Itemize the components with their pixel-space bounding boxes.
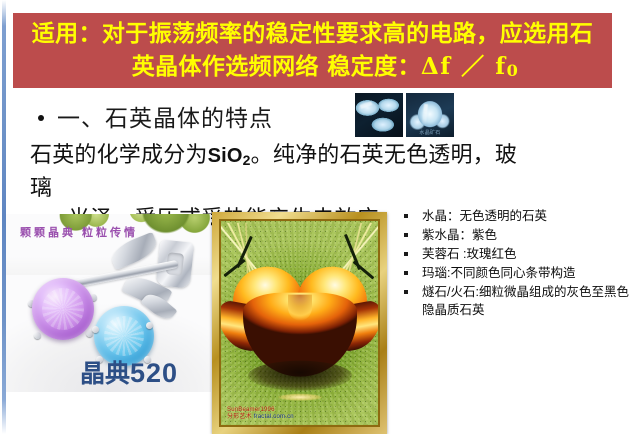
- gem-item-label: 燧石/火石:细粒微晶组成的灰色至黑色隐晶质石英: [422, 283, 630, 319]
- artwork-credit-line-1: SunBeamer1996: [227, 407, 294, 414]
- list-item: 玛瑙:不同颜色同心条带构造: [398, 264, 630, 282]
- bullet-square-icon: [404, 252, 408, 256]
- title-banner: 适用：对于振荡频率的稳定性要求高的电路，应选用石 英晶体作选频网络 稳定度：Δf…: [13, 13, 612, 88]
- chem-formula-base: SiO: [208, 145, 243, 167]
- amethyst-gemstone: [32, 278, 94, 340]
- list-item: 芙蓉石 :玫瑰红色: [398, 245, 630, 263]
- heart-notch: [288, 294, 312, 320]
- formula-delta-f: Δf: [421, 53, 452, 80]
- title-banner-line-2-text: 英晶体作选频网络 稳定度：: [132, 53, 421, 80]
- framed-artwork: SunBeamer1996 分形艺术 fractal.com.cn: [212, 212, 387, 434]
- quartz-photo-strip: 水晶矿石: [355, 93, 454, 137]
- gem-item-label: 玛瑙:不同颜色同心条带构造: [422, 264, 630, 282]
- jewelry-watermark-brand: 晶典520: [80, 358, 178, 389]
- chem-formula-subscript: 2: [243, 152, 251, 168]
- body-paragraph-line-1: 石英的化学成分为SiO2。纯净的石英无色透明，玻璃: [30, 140, 520, 204]
- artwork-credit-watermark: SunBeamer1996 分形艺术 fractal.com.cn: [227, 407, 294, 421]
- bullet-square-icon: [404, 214, 408, 218]
- gem-item-label: 紫水晶：紫色: [422, 226, 630, 244]
- setting-prong: [92, 326, 99, 333]
- list-item: 燧石/火石:细粒微晶组成的灰色至黑色隐晶质石英: [398, 283, 630, 319]
- gemstone-jewelry-photo: 颗颗晶典 粒粒传情 晶典520: [6, 214, 211, 392]
- setting-prong: [34, 332, 41, 339]
- title-banner-line-1: 适用：对于振荡频率的稳定性要求高的电路，应选用石: [32, 17, 594, 50]
- bullet-square-icon: [404, 290, 408, 294]
- list-item: 水晶：无色透明的石英: [398, 207, 630, 225]
- jewelry-brand-number: 520: [130, 358, 178, 388]
- section-heading: 一、石英晶体的特点: [38, 105, 273, 133]
- heart-glint: [278, 393, 322, 400]
- artwork-credit-cn: 分形艺术: [227, 414, 252, 420]
- gem-item-label: 芙蓉石 :玫瑰红色: [422, 245, 630, 263]
- gem-variety-list: 水晶：无色透明的石英 紫水晶：紫色 芙蓉石 :玫瑰红色 玛瑙:不同颜色同心条带构…: [398, 207, 630, 320]
- gem-item-label: 水晶：无色透明的石英: [422, 207, 630, 225]
- artwork-credit-line-2: 分形艺术 fractal.com.cn: [227, 414, 294, 421]
- fractal-heart-form: [233, 266, 367, 378]
- title-banner-line-2: 英晶体作选频网络 稳定度：Δf ／ f0: [106, 50, 520, 85]
- stability-formula: Δf ／ f0: [421, 53, 519, 80]
- jewelry-watermark-slogan: 颗颗晶典 粒粒传情: [20, 224, 138, 240]
- section-heading-label: 一、石英晶体的特点: [57, 105, 273, 133]
- quartz-photo-watermark: 水晶矿石: [406, 129, 454, 136]
- bullet-square-icon: [404, 233, 408, 237]
- slide-canvas: 适用：对于振荡频率的稳定性要求高的电路，应选用石 英晶体作选频网络 稳定度：Δf…: [0, 0, 634, 434]
- artwork-credit-url: fractal.com.cn: [254, 414, 294, 420]
- jewelry-brand-cn: 晶典: [80, 360, 130, 388]
- paragraph-text-before-formula: 石英的化学成分为: [30, 143, 208, 168]
- chemical-formula-sio2: SiO2: [208, 145, 251, 167]
- artwork-frame-bevel: SunBeamer1996 分形艺术 fractal.com.cn: [219, 219, 380, 427]
- setting-prong: [146, 322, 153, 329]
- formula-f-subscript: 0: [507, 61, 520, 80]
- heart-shadow: [248, 360, 352, 390]
- bullet-square-icon: [404, 271, 408, 275]
- quartz-crystals-photo-1: [355, 93, 403, 137]
- bullet-dot-icon: [38, 115, 44, 121]
- formula-slash: ／: [461, 53, 486, 80]
- list-item: 紫水晶：紫色: [398, 226, 630, 244]
- quartz-crystals-photo-2: 水晶矿石: [406, 93, 454, 137]
- formula-f: f: [495, 53, 506, 80]
